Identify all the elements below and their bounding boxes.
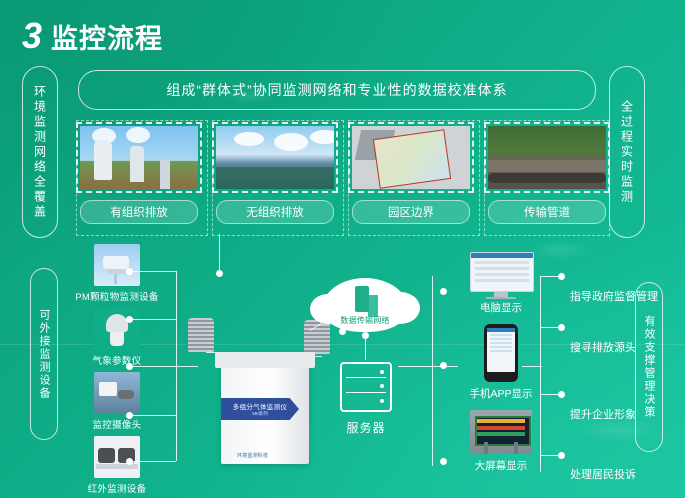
device-label: 气象参数仪 <box>92 353 141 367</box>
gas-monitoring-cabinet[interactable]: 多组分气体监测仪 M6系列 环境监测科技 <box>215 352 315 467</box>
cloud-label: 数据传输网络 <box>322 315 408 326</box>
display-label: 大屏幕显示 <box>475 458 528 473</box>
server-to-display-line <box>398 366 458 367</box>
benefits-bus-line <box>540 276 541 472</box>
connector-line <box>132 461 176 462</box>
benefit-text: 提升企业形象 <box>570 406 636 422</box>
benefits-feed-line <box>522 366 542 367</box>
card-photo-park-map <box>348 122 474 193</box>
source-cards-row: 有组织排放 无组织排放 园区边界 传输管道 <box>76 122 608 234</box>
connector-dot <box>558 452 565 459</box>
infrared-icon <box>94 436 140 478</box>
device-label: 监控摄像头 <box>92 417 141 431</box>
label-realtime-monitoring: 全过程实时监测 <box>609 66 645 238</box>
smartphone-icon <box>484 324 518 382</box>
device-label: 红外监测设备 <box>88 481 147 495</box>
data-network-cloud: 数据传输网络 <box>322 278 408 332</box>
server-icon <box>340 362 392 412</box>
cabinet-nameplate: 多组分气体监测仪 M6系列 <box>221 398 299 420</box>
source-card[interactable]: 无组织排放 <box>212 122 338 234</box>
label-external-devices: 可外接监测设备 <box>30 268 58 440</box>
connector-dot <box>558 391 565 398</box>
device-item-pm[interactable]: PM颗粒物监测设备 <box>62 244 172 303</box>
connector-dot <box>362 332 369 339</box>
sensor-shield-left <box>188 318 214 352</box>
connector-line <box>132 319 176 320</box>
server-node[interactable]: 服务器 <box>340 362 392 436</box>
source-card[interactable]: 传输管道 <box>484 122 610 234</box>
benefit-line <box>540 327 560 328</box>
source-card[interactable]: 有组织排放 <box>76 122 202 234</box>
benefit-line <box>540 394 560 395</box>
cloud-server-icon <box>355 286 369 312</box>
benefit-text: 搜寻排放源头 <box>570 339 636 355</box>
banner-headline: 组成“群体式”协同监测网络和专业性的数据校准体系 <box>78 70 596 110</box>
display-item-desktop[interactable]: 电脑显示 <box>455 252 547 315</box>
page-header: 3 监控流程 <box>22 18 163 54</box>
card-label: 园区边界 <box>352 200 470 224</box>
display-item-bigscreen[interactable]: 大屏幕显示 <box>455 410 547 473</box>
connector-dot <box>216 270 223 277</box>
slide-canvas: 3 监控流程 环境监测网络全覆盖 全过程实时监测 可外接监测设备 有效支撑管理决… <box>0 0 685 498</box>
connector-dot <box>440 362 447 369</box>
section-number: 3 <box>22 18 41 54</box>
external-device-list: PM颗粒物监测设备 气象参数仪 监控摄像头 红外监测设备 噪音监测设备 <box>62 244 172 498</box>
card-photo-waterfront <box>212 122 338 193</box>
connector-dot <box>339 328 346 335</box>
benefit-text: 处理居民投诉 <box>570 466 636 482</box>
server-label: 服务器 <box>340 419 392 436</box>
benefit-text: 指导政府监督管理 <box>570 288 658 304</box>
card-label: 无组织排放 <box>216 200 334 224</box>
device-item-camera[interactable]: 监控摄像头 <box>62 372 172 431</box>
label-decision-support: 有效支撑管理决策 <box>635 282 663 452</box>
display-item-phone[interactable]: 手机APP显示 <box>455 324 547 401</box>
cabinet-title: 多组分气体监测仪 <box>233 401 287 411</box>
connector-line <box>132 366 198 367</box>
source-card[interactable]: 园区边界 <box>348 122 474 234</box>
connector-dot <box>440 288 447 295</box>
connector-dot <box>558 324 565 331</box>
benefit-line <box>540 455 560 456</box>
pm-sensor-icon <box>94 244 140 286</box>
connector-line <box>132 415 176 416</box>
led-screen-icon <box>470 410 532 454</box>
right-bus-line <box>432 276 433 466</box>
cabinet-subtitle: M6系列 <box>252 411 267 417</box>
connector-line <box>132 271 176 272</box>
card-label: 传输管道 <box>488 200 606 224</box>
page-title: 监控流程 <box>51 26 163 53</box>
device-label: PM颗粒物监测设备 <box>75 289 158 303</box>
desktop-monitor-icon <box>470 252 532 296</box>
connector-bus <box>176 271 177 461</box>
device-item-infrared[interactable]: 红外监测设备 <box>62 436 172 495</box>
connector-dot <box>440 458 447 465</box>
display-label: 手机APP显示 <box>469 386 532 401</box>
card-photo-pipe <box>484 122 610 193</box>
card-photo-power-plant <box>76 122 202 193</box>
cabinet-logo: 环境监测科技 <box>237 452 268 459</box>
card-label: 有组织排放 <box>80 200 198 224</box>
display-label: 电脑显示 <box>480 300 522 315</box>
card-to-cabinet-line <box>219 234 220 272</box>
camera-icon <box>94 372 140 414</box>
connector-dot <box>558 273 565 280</box>
device-item-weather[interactable]: 气象参数仪 <box>62 308 172 367</box>
display-device-list: 电脑显示 手机APP显示 大屏幕显示 <box>455 252 547 482</box>
benefit-line <box>540 276 560 277</box>
cabinet-top <box>215 352 315 368</box>
label-environment-network-coverage: 环境监测网络全覆盖 <box>22 66 58 238</box>
weather-sensor-icon <box>94 308 140 350</box>
